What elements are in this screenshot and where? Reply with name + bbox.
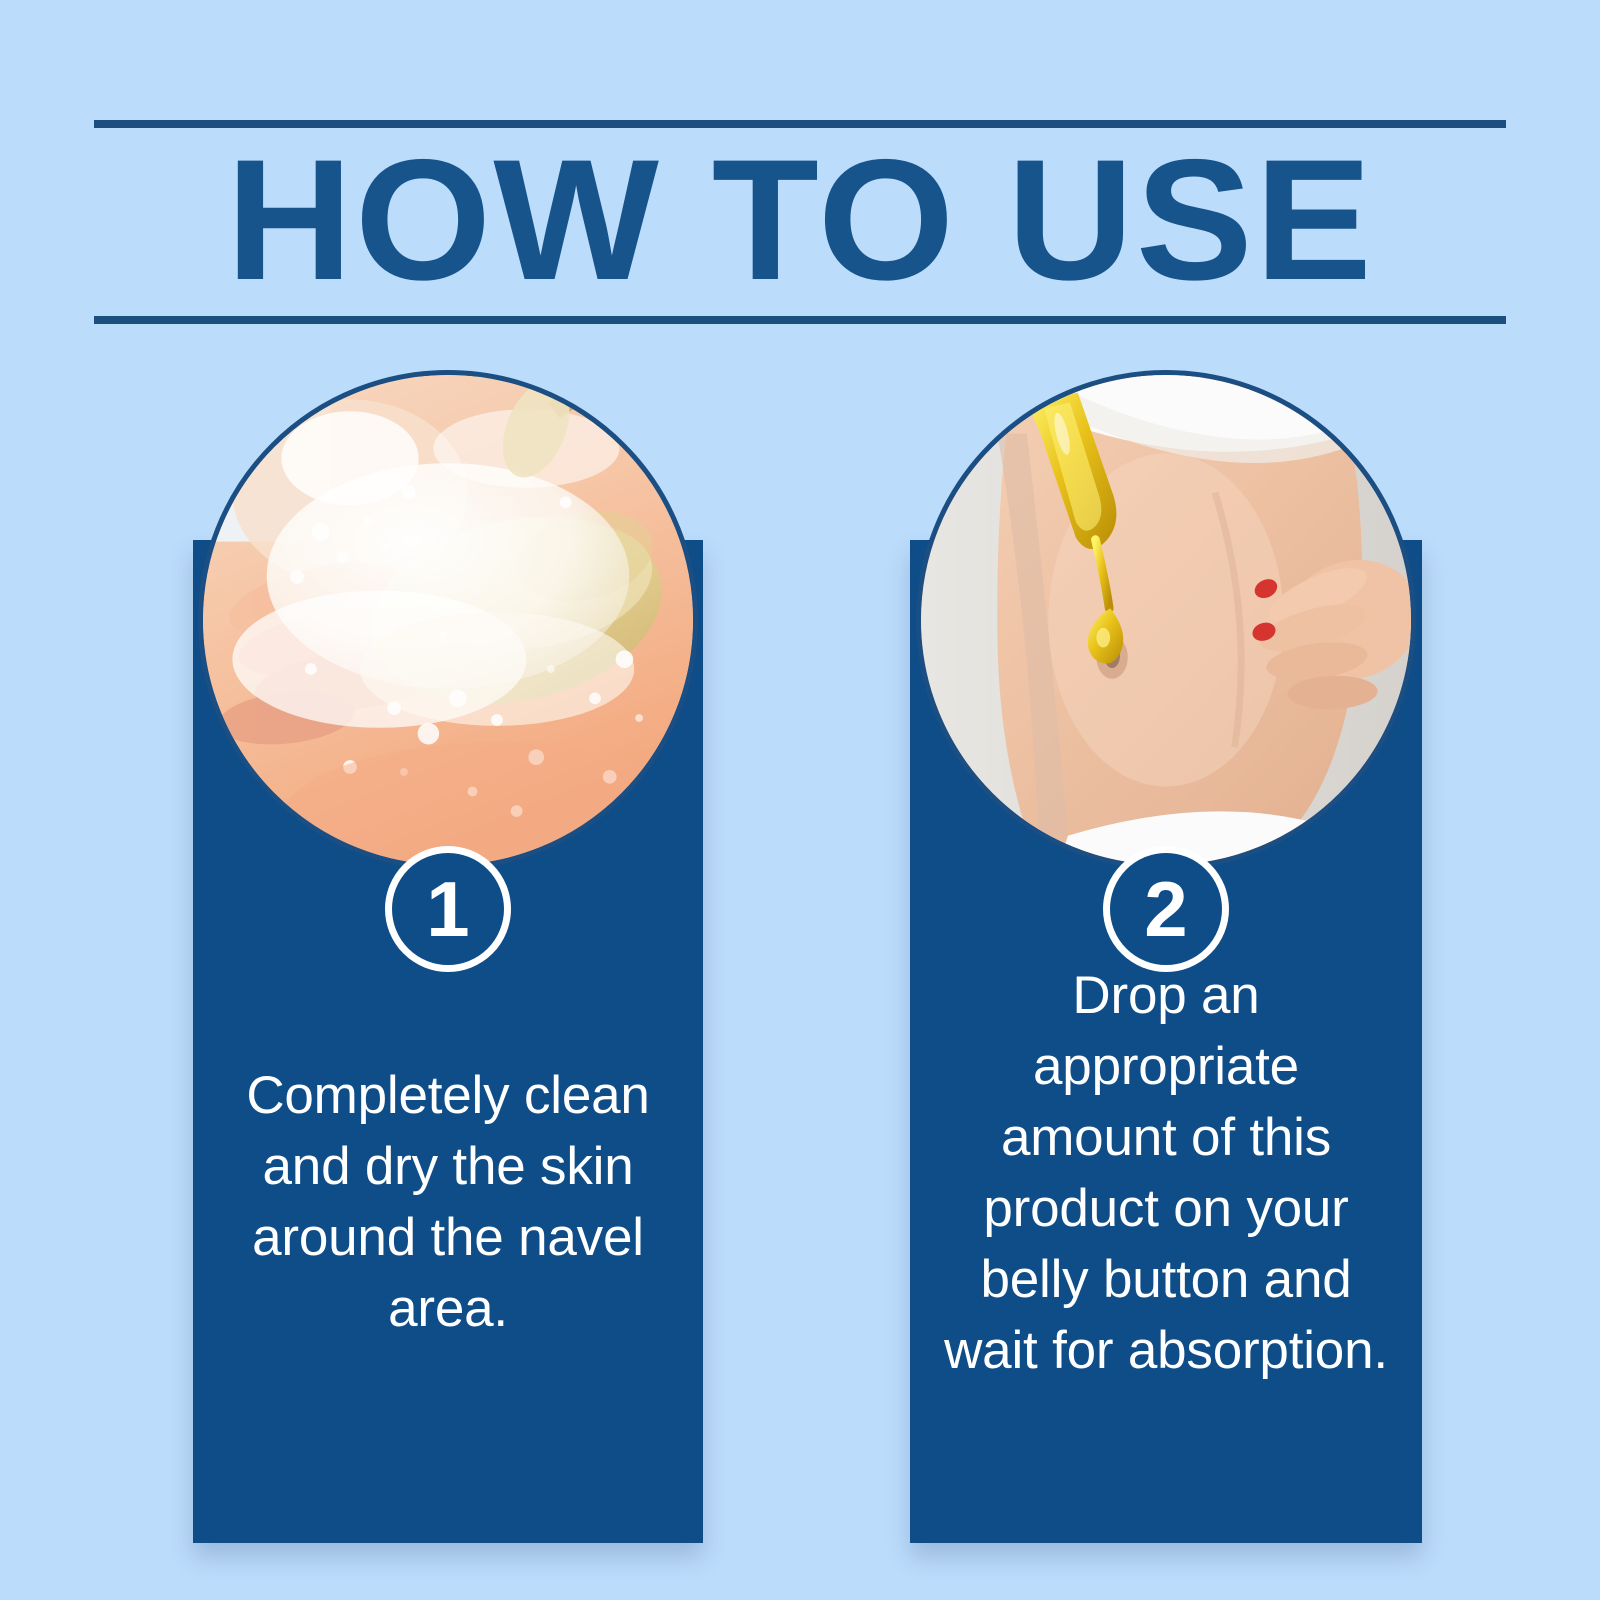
step-card-2: 2 Drop an appropriate amount of this pro… xyxy=(910,540,1422,1543)
oil-dropper-over-belly-button-photo xyxy=(921,375,1411,865)
washing-with-loofah-sponge-photo xyxy=(203,375,693,865)
step-1-description: Completely clean and dry the skin around… xyxy=(223,1060,673,1344)
step-2-description: Drop an appropriate amount of this produ… xyxy=(940,960,1392,1386)
step-card-1: 1 Completely clean and dry the skin arou… xyxy=(193,540,703,1543)
step-1-photo xyxy=(198,370,698,870)
steps-container: 1 Completely clean and dry the skin arou… xyxy=(0,0,1600,1600)
step-number-badge-1: 1 xyxy=(385,846,511,972)
step-2-photo xyxy=(916,370,1416,870)
step-number-badge-2: 2 xyxy=(1103,846,1229,972)
